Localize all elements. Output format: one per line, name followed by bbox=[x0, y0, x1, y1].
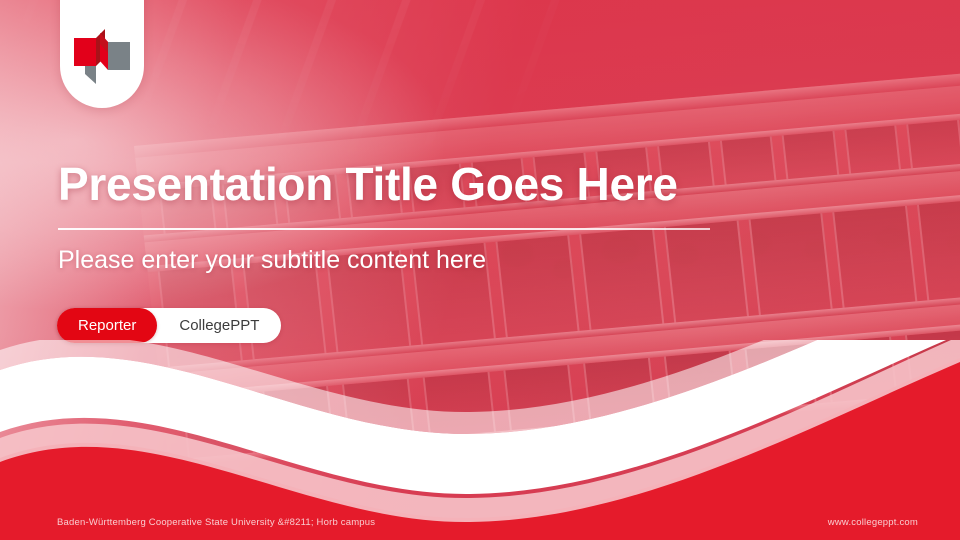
reporter-name-label[interactable]: CollegePPT bbox=[157, 308, 281, 343]
presentation-slide: Presentation Title Goes Here Please ente… bbox=[0, 0, 960, 540]
university-shield-logo-icon bbox=[60, 0, 144, 108]
footer-left-text: Baden-Württemberg Cooperative State Univ… bbox=[57, 517, 375, 528]
bottom-wave-decoration bbox=[0, 340, 960, 540]
logo-mark-icon bbox=[72, 22, 134, 88]
title-divider bbox=[58, 228, 710, 230]
footer-right-text: www.collegeppt.com bbox=[828, 517, 918, 528]
page-subtitle: Please enter your subtitle content here bbox=[58, 246, 758, 275]
page-title: Presentation Title Goes Here bbox=[58, 160, 758, 210]
reporter-pill[interactable]: Reporter CollegePPT bbox=[57, 308, 281, 343]
reporter-role-label[interactable]: Reporter bbox=[57, 308, 157, 343]
